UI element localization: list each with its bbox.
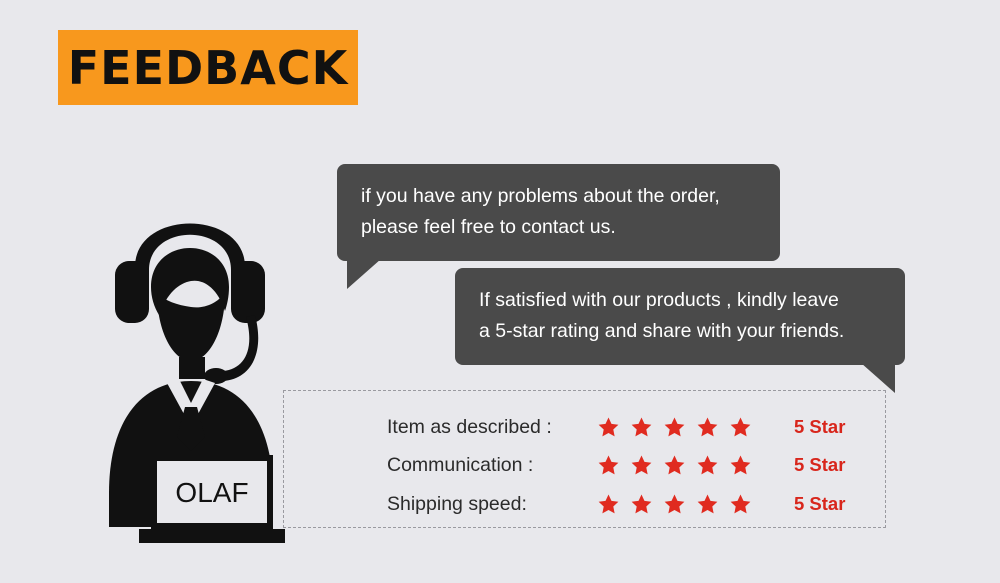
star-rating-group [597,454,772,477]
bubble-tail-icon [861,363,895,393]
star-icon [729,416,752,439]
feedback-title-banner: FEEDBACK [58,30,358,105]
rating-label: Communication : [387,454,597,477]
star-icon [729,454,752,477]
rating-label: Shipping speed: [387,493,597,516]
star-icon [696,454,719,477]
star-icon [630,454,653,477]
bubble-2-line-1: If satisfied with our products , kindly … [479,285,883,316]
star-icon [696,416,719,439]
star-icon [663,454,686,477]
star-rating-group [597,416,772,439]
star-icon [597,454,620,477]
bubble-1-line-2: please feel free to contact us. [361,212,758,243]
star-icon [663,493,686,516]
ratings-panel: Item as described : 5 Star Communication… [283,390,886,528]
star-icon [597,493,620,516]
bubble-2-line-2: a 5-star rating and share with your frie… [479,316,883,347]
star-icon [729,493,752,516]
star-icon [696,493,719,516]
page-title: FEEDBACK [68,45,349,91]
bubble-1-line-1: if you have any problems about the order… [361,181,758,212]
star-icon [663,416,686,439]
speech-bubble-rating-request: If satisfied with our products , kindly … [455,268,905,365]
rating-row-item-as-described: Item as described : 5 Star [387,414,845,440]
rating-row-shipping-speed: Shipping speed: 5 Star [387,491,845,517]
rating-value: 5 Star [794,493,845,515]
bubble-tail-icon [347,259,381,289]
rating-value: 5 Star [794,454,845,476]
star-rating-group [597,493,772,516]
star-icon [597,416,620,439]
star-icon [630,416,653,439]
laptop-badge-text: OLAF [175,477,248,508]
feedback-banner-image: FEEDBACK [0,0,1000,583]
speech-bubble-contact: if you have any problems about the order… [337,164,780,261]
rating-row-communication: Communication : 5 Star [387,452,845,478]
star-icon [630,493,653,516]
rating-value: 5 Star [794,416,845,438]
rating-label: Item as described : [387,416,597,439]
